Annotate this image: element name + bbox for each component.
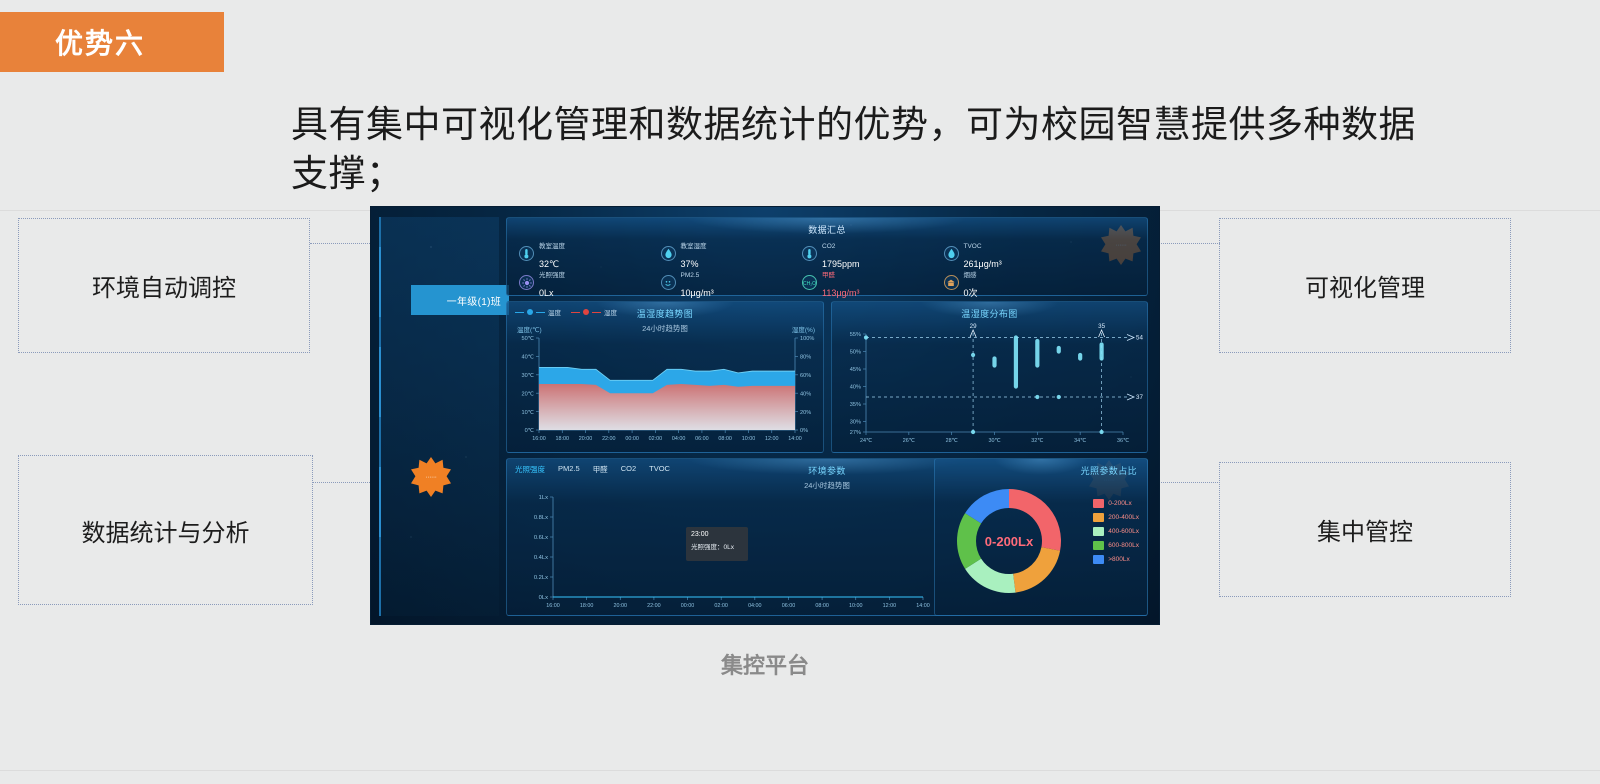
summary-stat-grid: 教室温度 32℃ 教室湿度 37% xyxy=(515,240,1077,296)
distribution-chart-plot: 27%30%35%40%45%50%55%24℃26℃28℃30℃32℃34℃3… xyxy=(832,320,1149,452)
donut-chart: 0-200Lx xyxy=(949,481,1069,601)
svg-text:24℃: 24℃ xyxy=(860,438,872,444)
legend-item-temperature[interactable]: 温度 xyxy=(515,307,561,317)
svg-text:16:00: 16:00 xyxy=(546,603,560,609)
formaldehyde-icon: CH₂O xyxy=(802,275,817,290)
page-title: 具有集中可视化管理和数据统计的优势，可为校园智慧提供多种数据支撑； xyxy=(291,100,1441,198)
tooltip-value: 光照强度：0Lx xyxy=(691,541,743,551)
svg-text:0%: 0% xyxy=(800,428,808,434)
panel-title: 温湿度分布图 xyxy=(832,307,1147,320)
svg-text:08:00: 08:00 xyxy=(815,603,829,609)
svg-text:80%: 80% xyxy=(800,355,811,361)
feature-box-visual-management: 可视化管理 xyxy=(1219,218,1511,353)
svg-text:20:00: 20:00 xyxy=(614,603,628,609)
legend-label: 温度 xyxy=(548,307,561,317)
svg-text:50℃: 50℃ xyxy=(521,336,534,342)
svg-text:36℃: 36℃ xyxy=(1117,438,1129,444)
tab-co2[interactable]: CO2 xyxy=(621,464,636,475)
svg-text:22:00: 22:00 xyxy=(647,603,661,609)
svg-text:00:00: 00:00 xyxy=(681,603,695,609)
pm25-face-icon xyxy=(661,275,676,290)
svg-text:29: 29 xyxy=(970,323,977,330)
feature-box-label: 数据统计与分析 xyxy=(82,513,250,548)
svg-text:20%: 20% xyxy=(800,410,811,416)
temp-humidity-trend-panel: 温湿度趋势图 24小时趋势图 温度 湿度 温度(℃) 湿度(%) 0℃10℃20 xyxy=(506,301,824,453)
stat-label: PM2.5 xyxy=(681,272,700,279)
dashboard-caption: 集控平台 xyxy=(370,648,1160,680)
divider-bottom xyxy=(0,770,1600,771)
svg-text:00:00: 00:00 xyxy=(625,436,639,442)
stat-smoke-alarm: 烟感 0次 xyxy=(940,269,1078,296)
svg-text:60%: 60% xyxy=(800,373,811,379)
rail-notch xyxy=(379,347,393,417)
rail-notch xyxy=(379,467,393,537)
svg-text:26℃: 26℃ xyxy=(903,438,915,444)
svg-text:40℃: 40℃ xyxy=(521,355,534,361)
svg-text:04:00: 04:00 xyxy=(748,603,762,609)
donut-legend-item[interactable]: 400-600Lx xyxy=(1093,527,1139,536)
stat-label: TVOC xyxy=(964,243,982,250)
legend-label: 200-400Lx xyxy=(1108,514,1139,521)
legend-label: 600-800Lx xyxy=(1108,542,1139,549)
svg-text:0Lx: 0Lx xyxy=(539,595,548,601)
svg-text:35%: 35% xyxy=(850,402,861,408)
smoke-alarm-icon xyxy=(944,275,959,290)
svg-text:CH₂O: CH₂O xyxy=(803,281,816,287)
data-summary-panel: 数据汇总 教室温度 32℃ 教室湿度 xyxy=(506,217,1148,296)
svg-text:12:00: 12:00 xyxy=(765,436,779,442)
legend-swatch xyxy=(1093,541,1104,550)
stat-classroom-temperature: 教室温度 32℃ xyxy=(515,240,653,267)
stat-formaldehyde: CH₂O 甲醛 113μg/m³ xyxy=(798,269,936,296)
donut-center-label: 0-200Lx xyxy=(949,481,1069,601)
stat-label: 教室温度 xyxy=(539,243,565,250)
svg-text:55%: 55% xyxy=(850,332,861,338)
dashboard-sidebar: 一年级(1)班 xyxy=(379,217,499,616)
svg-text:20℃: 20℃ xyxy=(521,391,534,397)
feature-box-label: 可视化管理 xyxy=(1305,268,1425,303)
svg-text:22:00: 22:00 xyxy=(602,436,616,442)
advantage-badge-label: 优势六 xyxy=(55,22,145,62)
svg-text:04:00: 04:00 xyxy=(672,436,686,442)
svg-text:1Lx: 1Lx xyxy=(539,495,548,501)
svg-text:18:00: 18:00 xyxy=(556,436,570,442)
legend-swatch xyxy=(1093,555,1104,564)
tvoc-drop-icon xyxy=(944,246,959,261)
feature-box-centralized-control: 集中管控 xyxy=(1219,462,1511,597)
svg-text:50%: 50% xyxy=(850,350,861,356)
feature-box-label: 集中管控 xyxy=(1317,512,1413,547)
thermometer-icon xyxy=(519,246,534,261)
svg-text:02:00: 02:00 xyxy=(649,436,663,442)
feature-box-data-statistics-analysis: 数据统计与分析 xyxy=(18,455,313,605)
tab-pm25[interactable]: PM2.5 xyxy=(558,464,580,475)
svg-text:34℃: 34℃ xyxy=(1074,438,1086,444)
legend-label: >800Lx xyxy=(1108,556,1130,563)
svg-text:30℃: 30℃ xyxy=(988,438,1000,444)
svg-text:0.6Lx: 0.6Lx xyxy=(534,535,548,541)
stat-value: 0次 xyxy=(964,288,978,298)
tab-light-intensity[interactable]: 光照强度 xyxy=(515,464,545,475)
svg-text:10℃: 10℃ xyxy=(521,410,534,416)
svg-text:20:00: 20:00 xyxy=(579,436,593,442)
legend-line xyxy=(515,312,524,313)
svg-text:100%: 100% xyxy=(800,336,814,342)
rail-notch xyxy=(379,247,393,317)
tab-tvoc[interactable]: TVOC xyxy=(649,464,670,475)
donut-legend-item[interactable]: >800Lx xyxy=(1093,555,1139,564)
svg-text:28℃: 28℃ xyxy=(946,438,958,444)
tab-formaldehyde[interactable]: 甲醛 xyxy=(593,464,608,475)
stat-co2: CO2 1795ppm xyxy=(798,240,936,267)
svg-text:08:00: 08:00 xyxy=(718,436,732,442)
stat-value: 0Lx xyxy=(539,288,554,298)
trend-legend: 温度 湿度 xyxy=(515,307,617,317)
donut-legend-item[interactable]: 0-200Lx xyxy=(1093,499,1139,508)
slide-root: 优势六 具有集中可视化管理和数据统计的优势，可为校园智慧提供多种数据支撑； 环境… xyxy=(0,0,1600,784)
sidebar-item-label: 一年级(1)班 xyxy=(447,293,501,308)
stat-label: 光照强度 xyxy=(539,272,565,279)
legend-swatch xyxy=(1093,513,1104,522)
stat-label: 教室湿度 xyxy=(681,243,707,250)
feature-box-environment-auto-control: 环境自动调控 xyxy=(18,218,310,353)
stat-pm25: PM2.5 10μg/m³ xyxy=(657,269,795,296)
svg-text:0.2Lx: 0.2Lx xyxy=(534,575,548,581)
humidity-drop-icon xyxy=(661,246,676,261)
stat-label: 烟感 xyxy=(964,272,977,279)
stat-light-intensity: 光照强度 0Lx xyxy=(515,269,653,296)
stat-value: 10μg/m³ xyxy=(681,288,714,298)
svg-text:10:00: 10:00 xyxy=(742,436,756,442)
donut-legend-item[interactable]: 200-400Lx xyxy=(1093,513,1139,522)
legend-swatch xyxy=(1093,499,1104,508)
svg-text:45%: 45% xyxy=(850,367,861,373)
svg-text:30℃: 30℃ xyxy=(521,373,534,379)
legend-label: 湿度 xyxy=(604,307,617,317)
svg-text:06:00: 06:00 xyxy=(695,436,709,442)
svg-text:14:00: 14:00 xyxy=(788,436,802,442)
stat-tvoc: TVOC 261μg/m³ xyxy=(940,240,1078,267)
trend-chart-plot: 0℃10℃20℃30℃40℃50℃0%20%40%60%80%100%16:00… xyxy=(507,332,825,452)
svg-text:40%: 40% xyxy=(850,385,861,391)
donut-legend-item[interactable]: 600-800Lx xyxy=(1093,541,1139,550)
chart-tooltip: 23:00 光照强度：0Lx xyxy=(686,527,748,561)
svg-text:12:00: 12:00 xyxy=(883,603,897,609)
legend-line xyxy=(592,312,601,313)
svg-text:14:00: 14:00 xyxy=(916,603,930,609)
svg-text:0.8Lx: 0.8Lx xyxy=(534,515,548,521)
svg-text:32℃: 32℃ xyxy=(1031,438,1043,444)
sidebar-item-selected-class[interactable]: 一年级(1)班 xyxy=(411,285,509,315)
stat-label: CO2 xyxy=(822,243,835,250)
advantage-badge: 优势六 xyxy=(0,12,224,72)
svg-text:02:00: 02:00 xyxy=(714,603,728,609)
legend-line xyxy=(571,312,580,313)
svg-text:35: 35 xyxy=(1098,323,1105,330)
svg-text:10:00: 10:00 xyxy=(849,603,863,609)
svg-text:06:00: 06:00 xyxy=(782,603,796,609)
temp-humidity-distribution-panel: 温湿度分布图 27%30%35%40%45%50%55%24℃26℃28℃30℃… xyxy=(831,301,1148,453)
legend-swatch xyxy=(1093,527,1104,536)
legend-dot xyxy=(583,309,589,315)
svg-text:18:00: 18:00 xyxy=(580,603,594,609)
svg-text:27%: 27% xyxy=(850,430,861,436)
legend-dot xyxy=(527,309,533,315)
donut-legend: 0-200Lx200-400Lx400-600Lx600-800Lx>800Lx xyxy=(1093,499,1139,564)
control-platform-dashboard: 一年级(1)班 ······ ······ ······ 数据汇总 教室温度 xyxy=(370,206,1160,625)
legend-label: 0-200Lx xyxy=(1108,500,1132,507)
light-share-panel: 光照参数占比 0-200Lx 0-200Lx200-400Lx400-600Lx… xyxy=(934,458,1148,616)
co2-icon xyxy=(802,246,817,261)
svg-text:0.4Lx: 0.4Lx xyxy=(534,555,548,561)
feature-box-label: 环境自动调控 xyxy=(92,268,236,303)
light-sun-icon xyxy=(519,275,534,290)
svg-text:16:00: 16:00 xyxy=(532,436,546,442)
starburst-label: ······ xyxy=(426,474,437,481)
legend-label: 400-600Lx xyxy=(1108,528,1139,535)
svg-text:54: 54 xyxy=(1136,335,1143,342)
stat-classroom-humidity: 教室湿度 37% xyxy=(657,240,795,267)
svg-text:30%: 30% xyxy=(850,420,861,426)
svg-text:40%: 40% xyxy=(800,391,811,397)
stat-value: 113μg/m³ xyxy=(822,288,860,298)
svg-text:37: 37 xyxy=(1136,394,1143,401)
legend-item-humidity[interactable]: 湿度 xyxy=(571,307,617,317)
panel-title: 光照参数占比 xyxy=(1081,464,1137,477)
env-param-tabs: 光照强度 PM2.5 甲醛 CO2 TVOC xyxy=(515,464,670,475)
svg-text:0℃: 0℃ xyxy=(525,428,535,434)
legend-line xyxy=(536,312,545,313)
tooltip-time: 23:00 xyxy=(691,531,743,538)
stat-label: 甲醛 xyxy=(822,272,835,279)
